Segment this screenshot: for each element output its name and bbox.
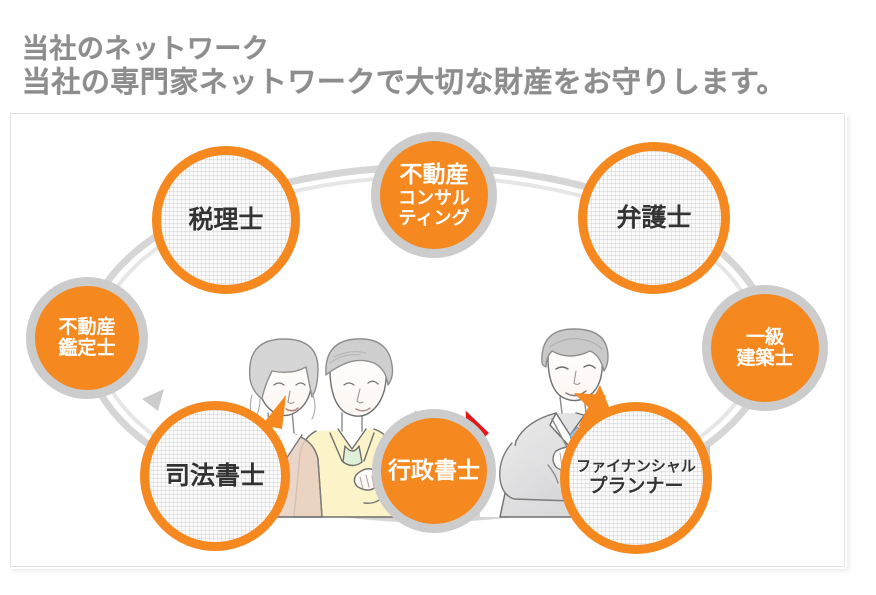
node-financial-planner[interactable]: ファイナンシャル プランナー: [560, 402, 712, 554]
node-realestate-consulting-label: 不動産 コンサル ティング: [398, 162, 470, 228]
node-financial-planner-label: ファイナンシャル プランナー: [576, 459, 696, 497]
node-realestate-appraiser-label: 不動産 鑑定士: [58, 317, 115, 360]
node-realestate-consulting[interactable]: 不動産 コンサル ティング: [371, 132, 497, 258]
node-judicial-scrivener-label: 司法書士: [165, 462, 265, 490]
node-financial-planner-line1: ファイナンシャル: [576, 459, 696, 476]
node-realestate-appraiser-line2: 鑑定士: [58, 338, 115, 359]
node-judicial-scrivener[interactable]: 司法書士: [140, 401, 290, 551]
page-title-line1: 当社のネットワーク: [22, 34, 852, 66]
node-realestate-consulting-line1: 不動産: [398, 162, 470, 188]
node-realestate-appraiser-line1: 不動産: [58, 317, 115, 338]
node-first-class-architect-line2: 建築士: [736, 348, 793, 369]
node-lawyer[interactable]: 弁護士: [578, 142, 730, 294]
node-lawyer-label: 弁護士: [616, 204, 691, 232]
page-title-line2: 当社の専門家ネットワークで大切な財産をお守りします。: [22, 66, 852, 100]
page-title: 当社のネットワーク 当社の専門家ネットワークで大切な財産をお守りします。: [22, 34, 852, 100]
node-realestate-appraiser[interactable]: 不動産 鑑定士: [26, 277, 148, 399]
node-tax-accountant-label: 税理士: [188, 206, 263, 234]
node-realestate-consulting-line3: ティング: [398, 208, 470, 228]
node-tax-accountant[interactable]: 税理士: [152, 146, 300, 294]
network-diagram-page: 当社のネットワーク 当社の専門家ネットワークで大切な財産をお守りします。: [0, 0, 876, 595]
node-first-class-architect-label: 一級 建築士: [736, 327, 793, 370]
node-first-class-architect-line1: 一級: [736, 327, 793, 348]
node-financial-planner-line2: プランナー: [576, 476, 696, 497]
node-realestate-consulting-line2: コンサル: [398, 188, 470, 208]
node-administrative-scrivener-label: 行政書士: [388, 458, 480, 484]
node-administrative-scrivener[interactable]: 行政書士: [372, 409, 496, 533]
node-first-class-architect[interactable]: 一級 建築士: [702, 285, 828, 411]
